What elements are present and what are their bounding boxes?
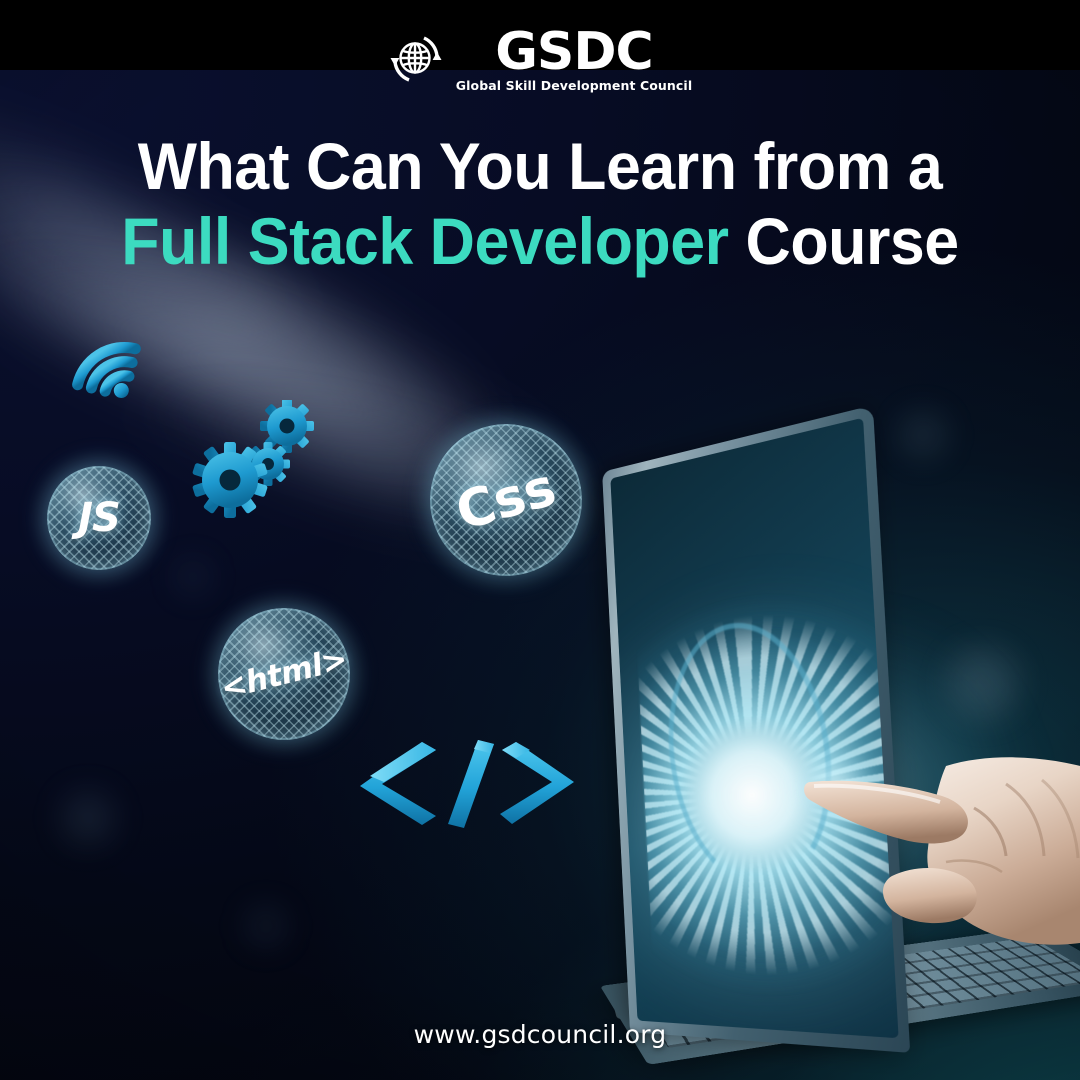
headline-line-2-rest: Course — [729, 204, 959, 278]
headline-line-2: Full Stack Developer Course — [27, 207, 1053, 276]
javascript-sphere-icon: JS — [47, 466, 151, 570]
sphere-label: JS — [47, 466, 151, 570]
gears-icon — [190, 400, 325, 525]
brand-name: GSDC — [495, 28, 652, 77]
footer-url[interactable]: www.gsdcouncil.org — [0, 1020, 1080, 1049]
pointing-hand — [796, 744, 1080, 974]
poster-canvas: JS Css <html> — [0, 0, 1080, 1080]
headline-accent: Full Stack Developer — [121, 204, 728, 278]
headline-line-1: What Can You Learn from a — [27, 132, 1053, 201]
brand-logo-text: GSDC Global Skill Development Council — [456, 28, 692, 93]
brand-logo: GSDC Global Skill Development Council — [0, 28, 1080, 108]
brand-tagline: Global Skill Development Council — [456, 80, 692, 93]
wifi-icon — [70, 320, 162, 398]
page-title: What Can You Learn from a Full Stack Dev… — [27, 132, 1053, 277]
globe-network-icon — [388, 30, 446, 88]
html-sphere-icon: <html> — [218, 608, 350, 740]
